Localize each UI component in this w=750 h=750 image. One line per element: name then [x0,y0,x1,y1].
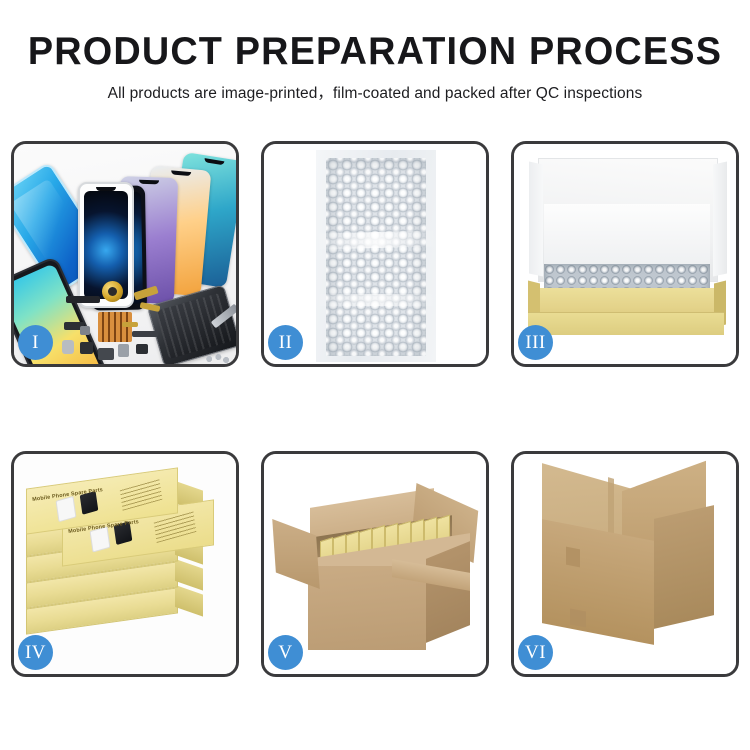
process-step-6: VI [511,451,739,677]
step-badge-2: II [268,325,303,360]
box-base-front [528,312,724,335]
flex-cable-part-3 [122,322,138,327]
speaker-coil-part [102,281,123,302]
small-part-4 [98,348,114,360]
small-part-7 [80,326,90,335]
screws-group [204,354,230,364]
process-step-2: II [261,141,489,367]
page-subtitle: All products are image-printed，film-coat… [0,84,750,104]
step-badge-6: VI [518,635,553,670]
connector-part [132,331,158,337]
step-badge-4: IV [18,635,53,670]
process-step-5: V [261,451,489,677]
small-part-3 [80,342,93,354]
wrap-highlight-1 [316,230,436,249]
carton-side-face [426,541,470,643]
step-badge-3: III [518,325,553,360]
small-part-5 [118,344,129,357]
box-stack: Mobile Phone Spare Parts Mobile Phone Sp… [18,472,234,660]
process-step-1: I [11,141,239,367]
process-step-4: Mobile Phone Spare Parts Mobile Phone Sp… [11,451,239,677]
step-badge-5: V [268,635,303,670]
page-title: PRODUCT PREPARATION PROCESS [11,30,739,74]
process-step-3: III [511,141,739,367]
process-grid: I II III [0,138,750,698]
wrap-highlight-2 [316,294,436,306]
carton-tape-1 [566,547,580,568]
sealed-carton-side [654,505,714,629]
earpiece-part [66,296,100,303]
bubble-pattern [326,158,426,356]
product-preparation-infographic: PRODUCT PREPARATION PROCESS All products… [0,0,750,750]
chip-grid-part [98,312,132,342]
step-badge-1: I [18,325,53,360]
sealed-carton-front [542,519,654,645]
small-part-2 [62,340,74,354]
header: PRODUCT PREPARATION PROCESS All products… [0,0,750,120]
carton-tape-2 [570,608,586,627]
small-part-6 [136,344,148,354]
